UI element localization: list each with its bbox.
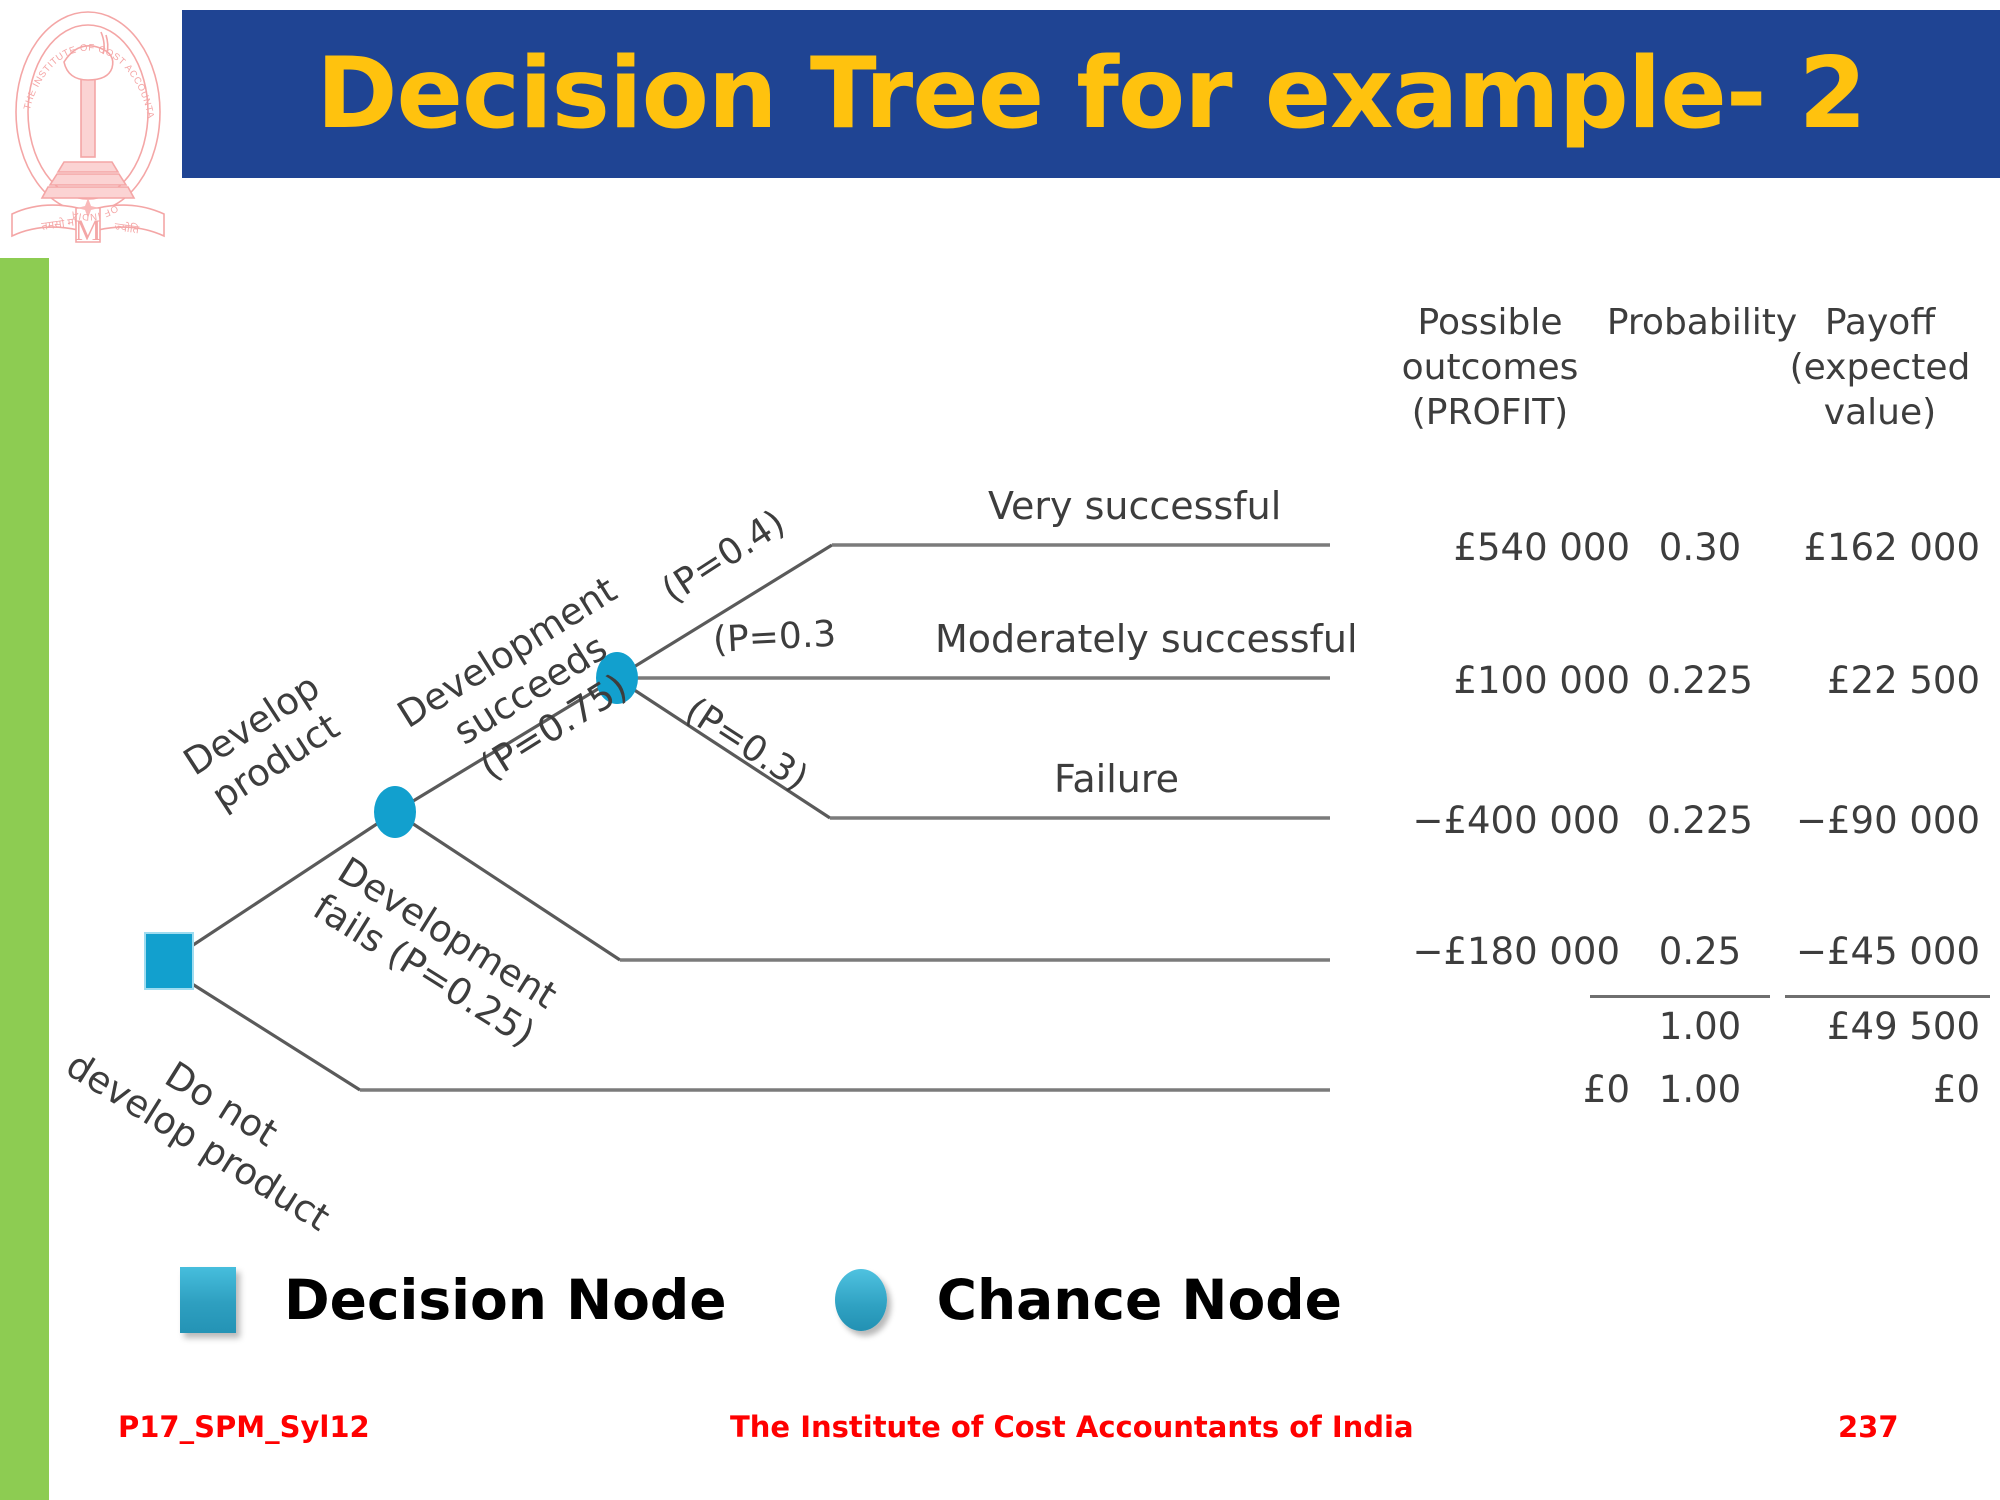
edge-label-moderately-successful-probability: (P=0.3 xyxy=(712,614,837,661)
node-legend: Decision Node Chance Node xyxy=(180,1245,1342,1355)
cell-payoff-do-nothing: £0 xyxy=(1690,1068,1980,1111)
totals-rule-payoff xyxy=(1785,995,1990,998)
legend-label-decision-node: Decision Node xyxy=(284,1268,727,1332)
legend-label-chance-node: Chance Node xyxy=(937,1268,1342,1332)
decision-node-root[interactable] xyxy=(144,932,194,990)
cell-profit-row-3: −£400 000 xyxy=(1340,799,1620,842)
column-header-payoff: Payoff (expected value) xyxy=(1760,300,2000,435)
cell-payoff-row-1: £162 000 xyxy=(1690,526,1980,569)
institute-logo: M THE INSTITUTE OF COST ACCOUNTANTS OF I… xyxy=(2,2,174,257)
cell-payoff-row-3: −£90 000 xyxy=(1690,799,1980,842)
edge-label-very-successful-probability: (P=0.4) xyxy=(655,502,792,611)
page-title: Decision Tree for example- 2 xyxy=(182,10,2000,178)
footer-subject-code: P17_SPM_Syl12 xyxy=(118,1410,370,1444)
slide-title-bar: Decision Tree for example- 2 xyxy=(182,10,2000,178)
totals-rule-probability xyxy=(1590,995,1770,998)
cell-payoff-row-2: £22 500 xyxy=(1690,659,1980,702)
edge-label-develop-product: Develop product xyxy=(176,665,352,822)
footer-institute-name: The Institute of Cost Accountants of Ind… xyxy=(730,1410,1414,1444)
chance-node-swatch xyxy=(835,1269,887,1331)
outcome-label-failure: Failure xyxy=(1054,757,1179,801)
left-accent-stripe xyxy=(0,258,49,1500)
outcome-label-moderately-successful: Moderately successful xyxy=(935,617,1358,661)
cell-profit-row-1: £540 000 xyxy=(1350,526,1630,569)
edge-label-development-fails: Development fails (P=0.25) xyxy=(305,848,565,1056)
chance-node-development[interactable] xyxy=(374,786,416,838)
footer-page-number: 237 xyxy=(1838,1410,1899,1444)
cell-profit-row-4: −£180 000 xyxy=(1340,930,1620,973)
cell-profit-row-2: £100 000 xyxy=(1350,659,1630,702)
edge-label-failure-probability: (P=0.3) xyxy=(678,690,815,799)
slide-footer: P17_SPM_Syl12 The Institute of Cost Acco… xyxy=(0,1410,2000,1470)
cell-payoff-row-4: −£45 000 xyxy=(1690,930,1980,973)
edge-label-do-not-develop: Do not develop product xyxy=(58,1006,360,1240)
outcome-label-very-successful: Very successful xyxy=(988,484,1281,528)
cell-payoff-total: £49 500 xyxy=(1690,1005,1980,1048)
edge-label-development-succeeds: Development succeeds (P=0.75) xyxy=(390,568,671,812)
decision-node-swatch xyxy=(180,1267,236,1333)
cell-profit-do-nothing: £0 xyxy=(1350,1068,1630,1111)
